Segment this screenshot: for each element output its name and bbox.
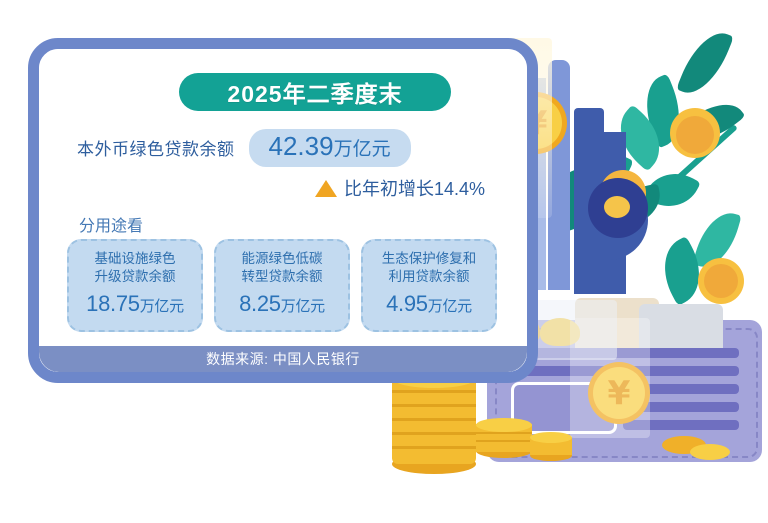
usage-card-ecology: 生态保护修复和 利用贷款余额 4.95万亿元 [361, 239, 497, 332]
card-title: 能源绿色低碳 转型贷款余额 [222, 250, 342, 286]
building-shapes [548, 60, 668, 310]
coin-stack-large [392, 368, 476, 474]
infographic-canvas: ¥ ¥ [0, 0, 768, 523]
headline-row: 本外币绿色贷款余额 42.39万亿元 [77, 129, 507, 167]
infographic-frame: 2025年二季度末 本外币绿色贷款余额 42.39万亿元 比年初增长14.4% … [28, 38, 538, 383]
card-title-line2: 利用贷款余额 [369, 268, 489, 286]
card-value-unit: 万亿元 [428, 298, 472, 315]
card-title-line2: 升级贷款余额 [75, 268, 195, 286]
usage-cards: 基础设施绿色 升级贷款余额 18.75万亿元 能源绿色低碳 转型贷款余额 8.2… [67, 239, 499, 332]
banner-title: 2025年二季度末 [227, 75, 402, 109]
card-value-number: 4.95 [386, 291, 428, 316]
wallet-pocket [511, 382, 617, 434]
coin-loose-right-a [662, 436, 706, 454]
headline-value: 42.39 [269, 131, 334, 161]
card-value: 18.75万亿元 [75, 291, 195, 317]
headline-unit: 万亿元 [334, 139, 391, 160]
building-ring-accent [588, 178, 648, 238]
card-title: 生态保护修复和 利用贷款余额 [369, 250, 489, 286]
card-title-line1: 生态保护修复和 [369, 250, 489, 268]
yen-symbol-wallet: ¥ [593, 373, 645, 413]
growth-row: 比年初增长14.4% [39, 175, 521, 201]
growth-text: 比年初增长14.4% [344, 175, 485, 201]
card-title-line1: 能源绿色低碳 [222, 250, 342, 268]
leaf-branch-mid [520, 150, 640, 320]
source-bar: 数据来源: 中国人民银行 [39, 346, 527, 372]
card-value-unit: 万亿元 [140, 298, 184, 315]
coin-stack-tiny [530, 432, 572, 464]
title-banner: 2025年二季度末 [179, 73, 451, 111]
coin-loose-right-b [690, 444, 730, 460]
card-value: 8.25万亿元 [222, 291, 342, 317]
coin-stack-small [476, 418, 532, 462]
source-text: 数据来源: 中国人民银行 [206, 349, 360, 369]
building-ring-inner [604, 196, 630, 218]
up-triangle-icon [315, 180, 337, 197]
usage-card-infrastructure: 基础设施绿色 升级贷款余额 18.75万亿元 [67, 239, 203, 332]
building-fruit-accent [600, 170, 646, 216]
coin-behind-wallet-b [540, 318, 580, 346]
wallet-card-grey [639, 304, 723, 358]
usage-card-energy: 能源绿色低碳 转型贷款余额 8.25万亿元 [214, 239, 350, 332]
card-value-number: 8.25 [239, 291, 281, 316]
card-title: 基础设施绿色 升级贷款余额 [75, 250, 195, 286]
headline-value-pill: 42.39万亿元 [249, 129, 411, 167]
subheading: 分用途看 [79, 212, 143, 236]
infographic-panel: 2025年二季度末 本外币绿色贷款余额 42.39万亿元 比年初增长14.4% … [39, 49, 527, 372]
headline-label: 本外币绿色贷款余额 [77, 135, 235, 160]
card-value: 4.95万亿元 [369, 291, 489, 317]
glass-overlay-wallet [570, 318, 650, 438]
card-value-unit: 万亿元 [281, 298, 325, 315]
leaf-branch-upper [600, 20, 768, 320]
card-title-line2: 转型贷款余额 [222, 268, 342, 286]
card-value-number: 18.75 [86, 291, 140, 316]
wallet-card-beige [575, 298, 659, 358]
yen-coin-wallet: ¥ [588, 362, 650, 424]
card-title-line1: 基础设施绿色 [75, 250, 195, 268]
